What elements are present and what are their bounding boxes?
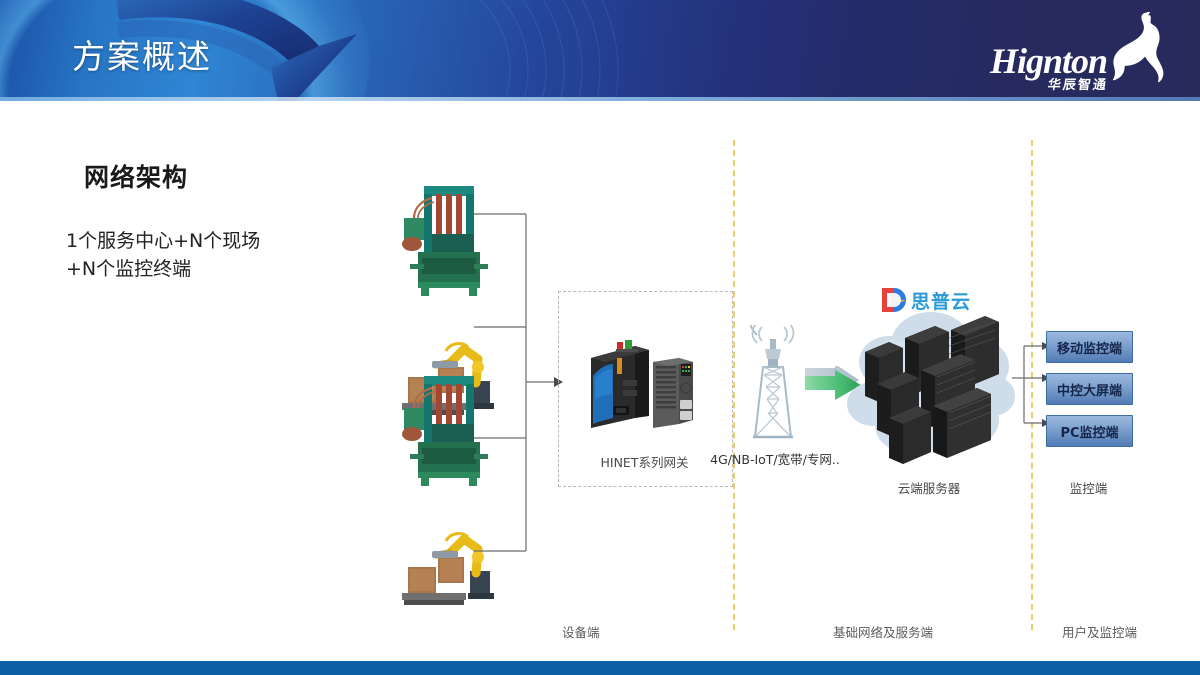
- logo-chinese-name: 华辰智通: [1047, 74, 1110, 93]
- monitor-box-mobile[interactable]: 移动监控端: [1046, 331, 1133, 363]
- network-label: 4G/NB-IoT/宽带/专网..: [705, 449, 845, 468]
- monitor-box-bigscreen[interactable]: 中控大屏端: [1046, 373, 1133, 405]
- brand-logo: Hignton 华辰智通: [988, 14, 1178, 92]
- monitor-box-pc[interactable]: PC监控端: [1046, 415, 1133, 447]
- zone-label-user-monitor: 用户及监控端: [1062, 622, 1137, 641]
- cloud-server-rack-icon: [843, 300, 1015, 475]
- slide-header: 方案概述 Hignton 华辰智通: [0, 0, 1200, 101]
- industrial-gateway-icon: [583, 332, 701, 438]
- footer-bar: [0, 661, 1200, 675]
- section-description: 1个服务中心+N个现场+N个监控终端: [66, 228, 356, 283]
- page-title: 方案概述: [72, 30, 212, 78]
- equipment-bracket-connector: [470, 210, 566, 555]
- cloud-label: 云端服务器: [843, 478, 1015, 497]
- zone-label-device: 设备端: [562, 622, 600, 641]
- header-underline: [0, 97, 1200, 101]
- zone-label-network-server: 基础网络及服务端: [833, 622, 933, 641]
- monitors-label: 监控端: [1046, 478, 1131, 497]
- cell-tower-icon: [735, 325, 811, 445]
- antelope-icon: [1100, 12, 1176, 88]
- section-heading: 网络架构: [84, 158, 188, 194]
- slide-canvas: 方案概述 Hignton 华辰智通 网络架构 1个服务中心+N个现场+N个监控终…: [0, 0, 1200, 675]
